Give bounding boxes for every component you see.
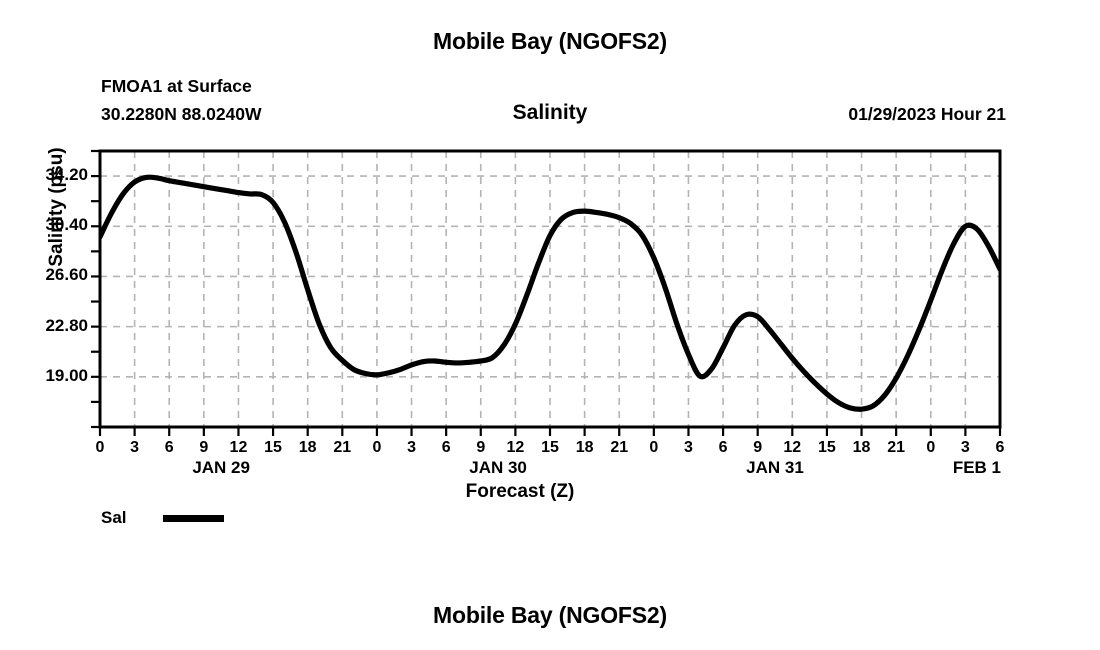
y-tick-label: 30.40 xyxy=(14,215,88,235)
chart-legend: Sal xyxy=(101,508,224,528)
x-axis-day-label: FEB 1 xyxy=(897,458,1057,478)
plot-area: Salinity (psu) 34.2030.4026.6022.8019.00… xyxy=(0,0,1100,650)
x-axis-title: Forecast (Z) xyxy=(360,481,680,503)
y-tick-label: 26.60 xyxy=(14,265,88,285)
page-title-bottom: Mobile Bay (NGOFS2) xyxy=(0,602,1100,629)
y-tick-label: 34.20 xyxy=(14,165,88,185)
x-tick-label: 6 xyxy=(980,439,1020,457)
y-tick-label: 19.00 xyxy=(14,366,88,386)
y-tick-label: 22.80 xyxy=(14,316,88,336)
legend-label: Sal xyxy=(101,508,127,528)
legend-color-swatch xyxy=(163,515,224,522)
chart-page: Mobile Bay (NGOFS2) FMOA1 at Surface 30.… xyxy=(0,0,1100,650)
x-axis-day-label: JAN 30 xyxy=(418,458,578,478)
chart-canvas xyxy=(0,0,1100,650)
x-axis-day-label: JAN 29 xyxy=(141,458,301,478)
x-axis-day-label: JAN 31 xyxy=(695,458,855,478)
